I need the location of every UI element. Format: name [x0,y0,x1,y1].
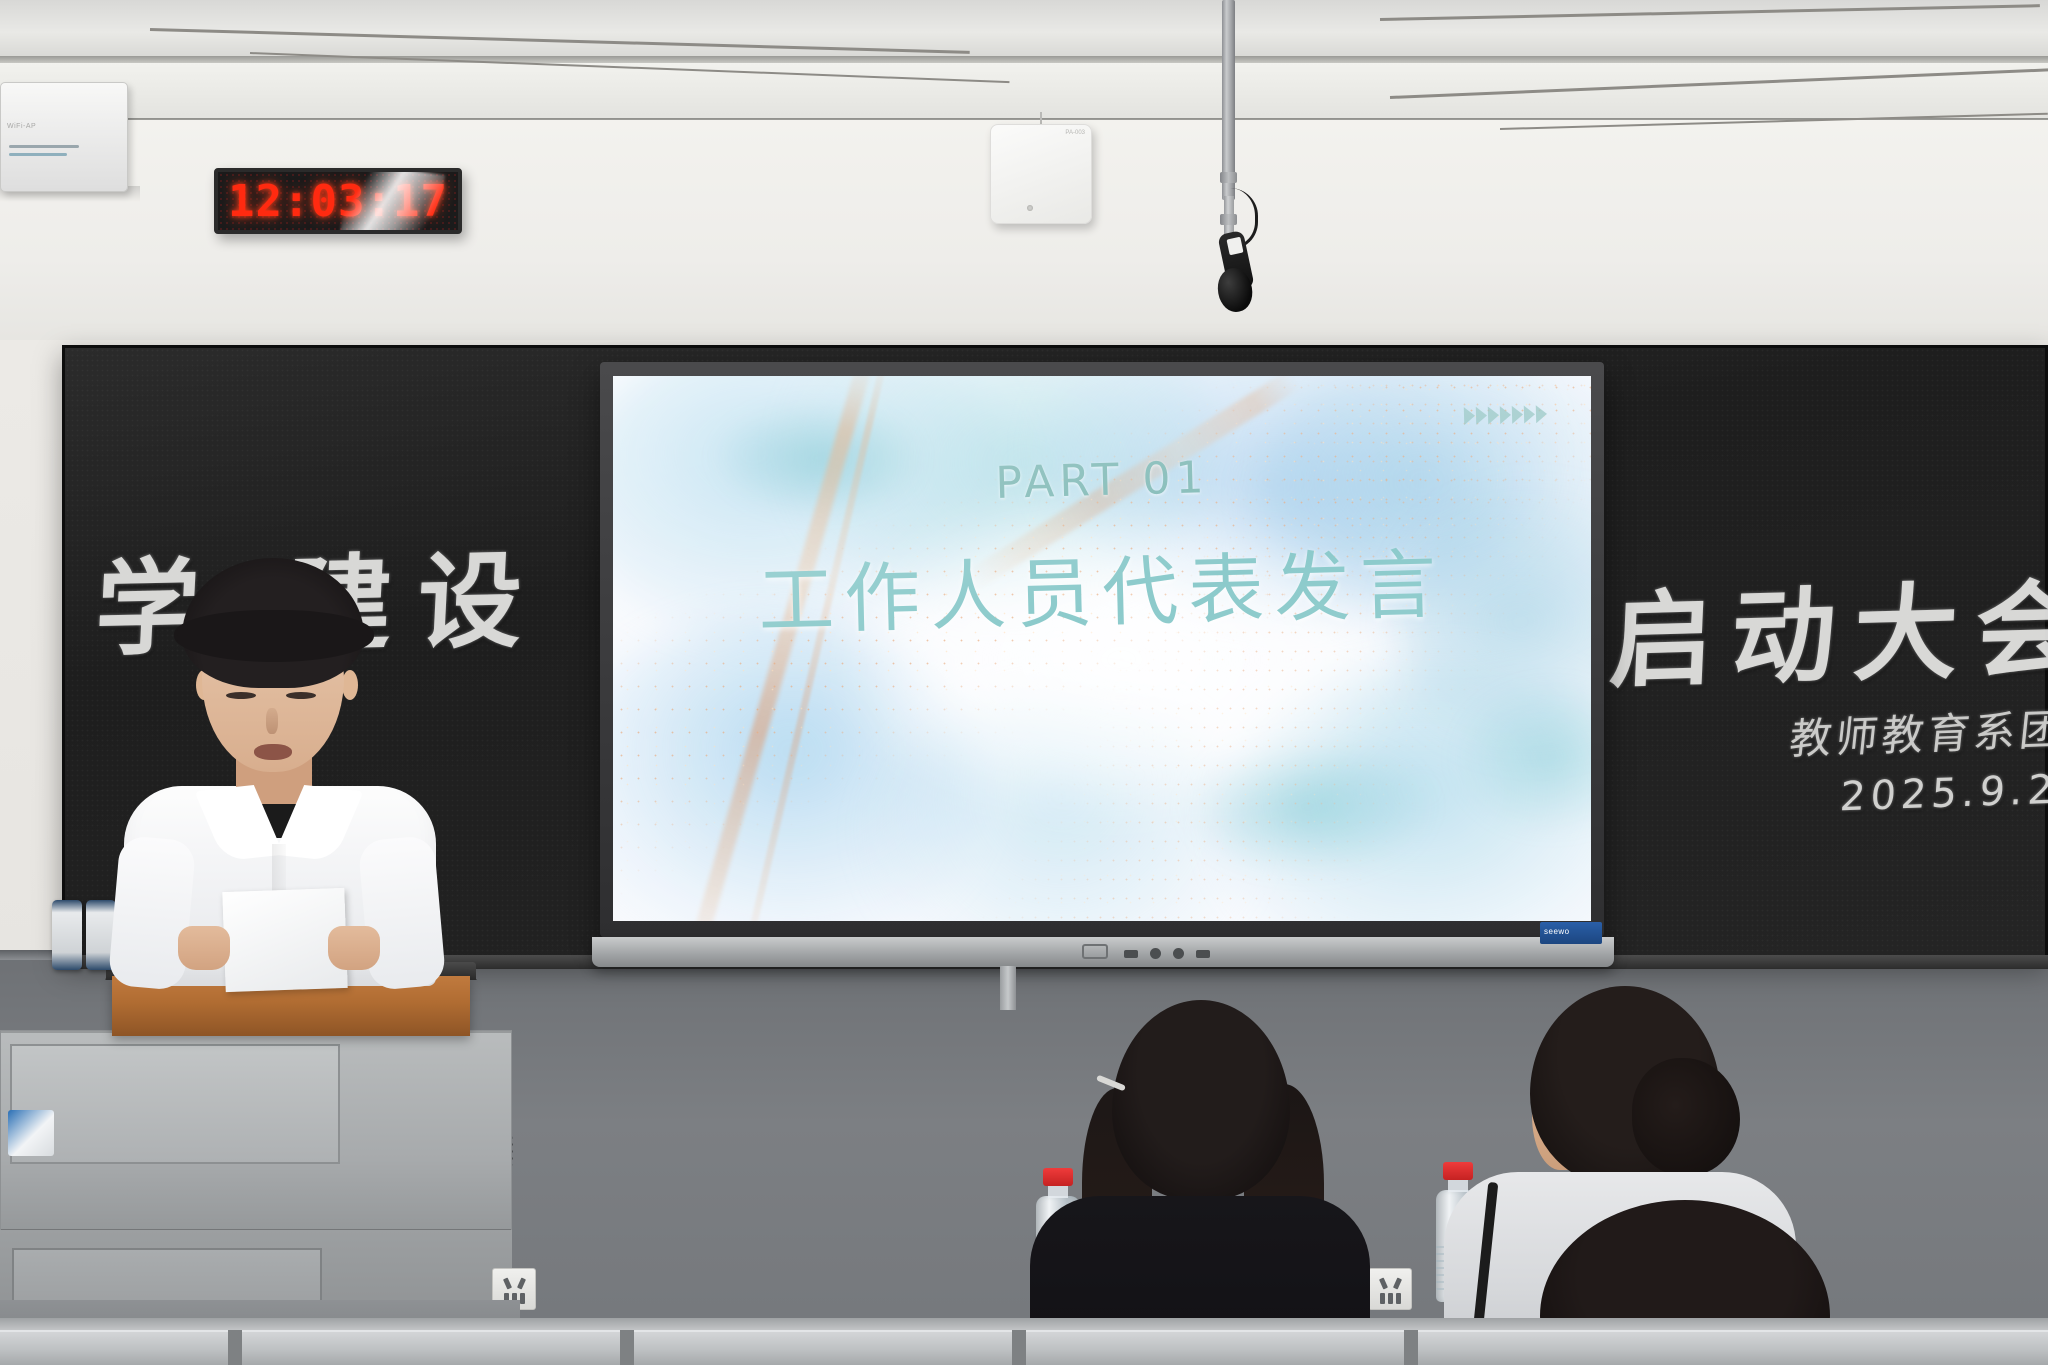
wall-speaker-indicator [1027,205,1033,211]
blackboard-right-text: 启动大会 [1607,544,2048,708]
ir-sensor-icon [1173,948,1184,959]
wall-speaker-box: PA-003 [990,124,1092,224]
speaker-arm-left [108,835,197,991]
speaker-hand-right [328,926,380,970]
display-stand-leg [1000,966,1016,1010]
clock-time: 12:03:17 [218,172,458,230]
speaker-nose [266,708,278,734]
classroom-scene: WiFi-AP 12:03:17 PA-003 学 建设 启动大会 教师教育系团… [0,0,2048,1365]
ap-label: WiFi-AP [7,123,36,130]
display-brand-tag: seewo [1540,922,1602,944]
ap-vent-2 [9,153,67,156]
display-logo-icon [1082,944,1108,959]
eraser-icon-1[interactable] [52,900,82,970]
ceiling-seam-upper [0,56,2048,63]
podium-upper-panel[interactable] [10,1044,340,1164]
podium-sticker [8,1110,54,1156]
speaker-eye-left [226,692,256,699]
blackboard-date: 2025.9.29 [1838,766,2048,821]
microphone-pole [1222,0,1235,200]
desk-gap-4 [1404,1330,1418,1365]
speaker-ear-right [342,670,358,700]
ceiling-panel [0,62,2048,120]
speaker-mouth [254,744,292,760]
display-brand-text: seewo [1540,922,1602,941]
wall-speaker-label: PA-003 [1065,130,1085,136]
aud2-hair-bun [1632,1058,1740,1176]
slide-screen[interactable]: PART 01 工作人员代表发言 [613,376,1591,921]
speaker-person [120,558,440,978]
desk-gap-2 [620,1330,634,1365]
desk-gap-1 [228,1330,242,1365]
chevron-right-icon-group [1464,405,1547,425]
aud1-head [1112,1000,1290,1200]
desk-gap-3 [1012,1330,1026,1365]
aux-port-icon[interactable] [1196,950,1210,958]
microphone-tag [1226,237,1243,256]
wall-outlet-right[interactable] [1368,1268,1412,1310]
led-wall-clock: 12:03:17 [214,168,462,234]
usb-port-icon[interactable] [1124,950,1138,958]
ap-vent-1 [9,145,79,148]
blackboard-subtitle: 教师教育系团学 [1787,694,2048,767]
speaker-hand-left [178,926,230,970]
display-ports[interactable] [1124,948,1210,959]
power-button-icon[interactable] [1150,948,1161,959]
speaker-eye-right [286,692,316,699]
presentation-display[interactable]: PART 01 工作人员代表发言 [600,362,1604,937]
seated-person-dark-jacket [1030,1000,1370,1365]
speaker-hair [182,558,364,688]
wifi-access-point: WiFi-AP [0,82,128,192]
microphone-collar-upper [1220,172,1237,183]
